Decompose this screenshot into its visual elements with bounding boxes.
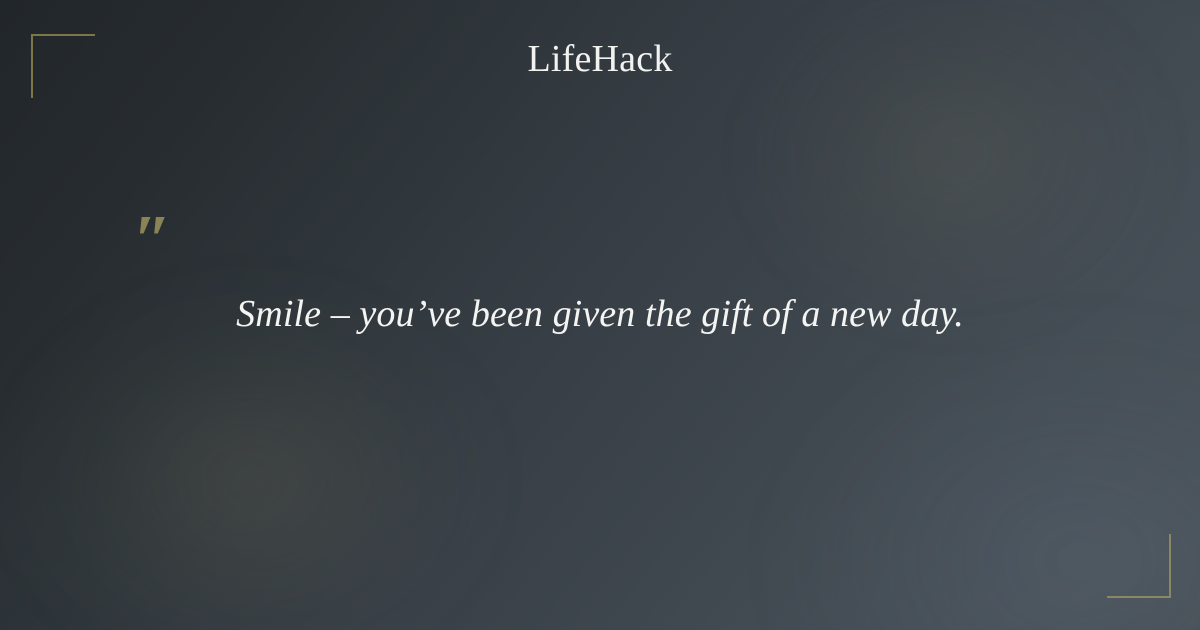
quote-container: Smile – you’ve been given the gift of a … bbox=[0, 288, 1200, 340]
brand-logo: LifeHack bbox=[0, 36, 1200, 82]
quotation-mark-icon: ″ bbox=[133, 206, 170, 276]
quote-card: LifeHack ″ Smile – you’ve been given the… bbox=[0, 0, 1200, 630]
quote-text: Smile – you’ve been given the gift of a … bbox=[236, 288, 964, 340]
